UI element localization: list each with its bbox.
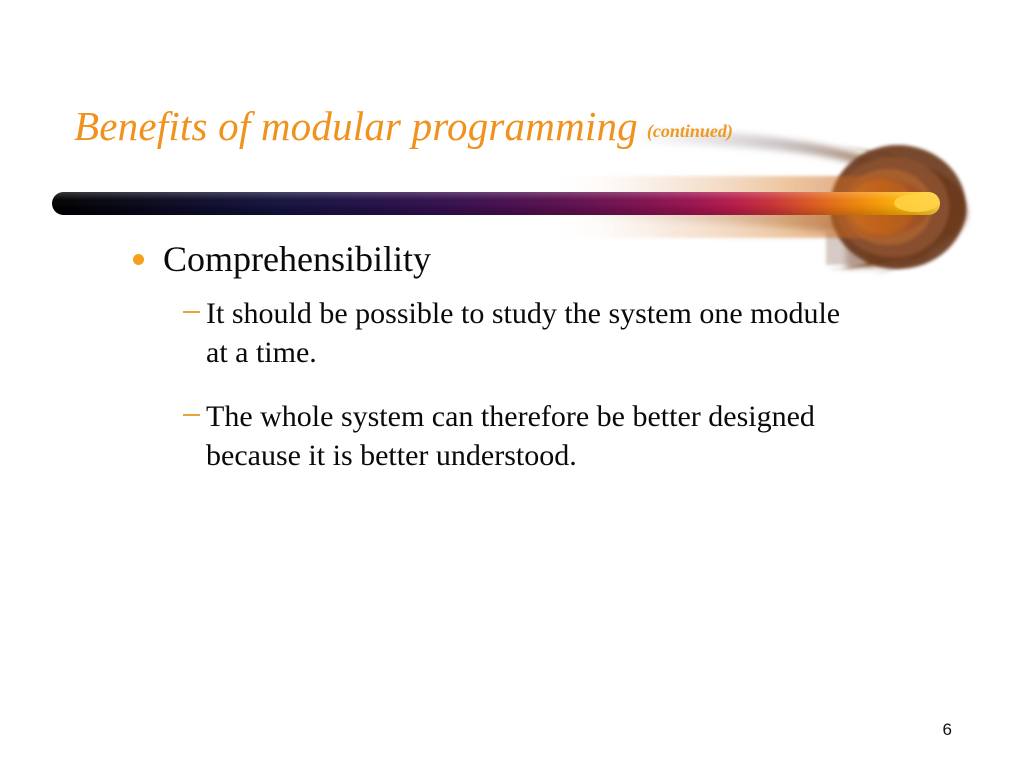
slide-canvas: Benefits of modular programming(continue… xyxy=(0,0,1024,768)
dash-bullet-icon xyxy=(183,414,200,416)
bullet-level2-text: It should be possible to study the syste… xyxy=(206,297,840,368)
page-title-main: Benefits of modular programming xyxy=(74,103,638,149)
bullet-level1-text: Comprehensibility xyxy=(163,239,431,279)
bullet-level2: The whole system can therefore be better… xyxy=(0,398,1024,475)
page-number: 6 xyxy=(943,720,952,740)
bullet-level2-text: The whole system can therefore be better… xyxy=(206,400,815,471)
round-bullet-icon xyxy=(133,254,144,265)
bullet-level2: It should be possible to study the syste… xyxy=(0,295,1024,372)
dash-bullet-icon xyxy=(183,311,200,313)
page-title: Benefits of modular programming(continue… xyxy=(74,106,954,166)
slide-body: Comprehensibility It should be possible … xyxy=(0,238,1024,475)
bullet-level1: Comprehensibility xyxy=(0,238,1024,280)
page-title-continued: (continued) xyxy=(647,121,733,141)
gradient-bar xyxy=(52,192,940,215)
